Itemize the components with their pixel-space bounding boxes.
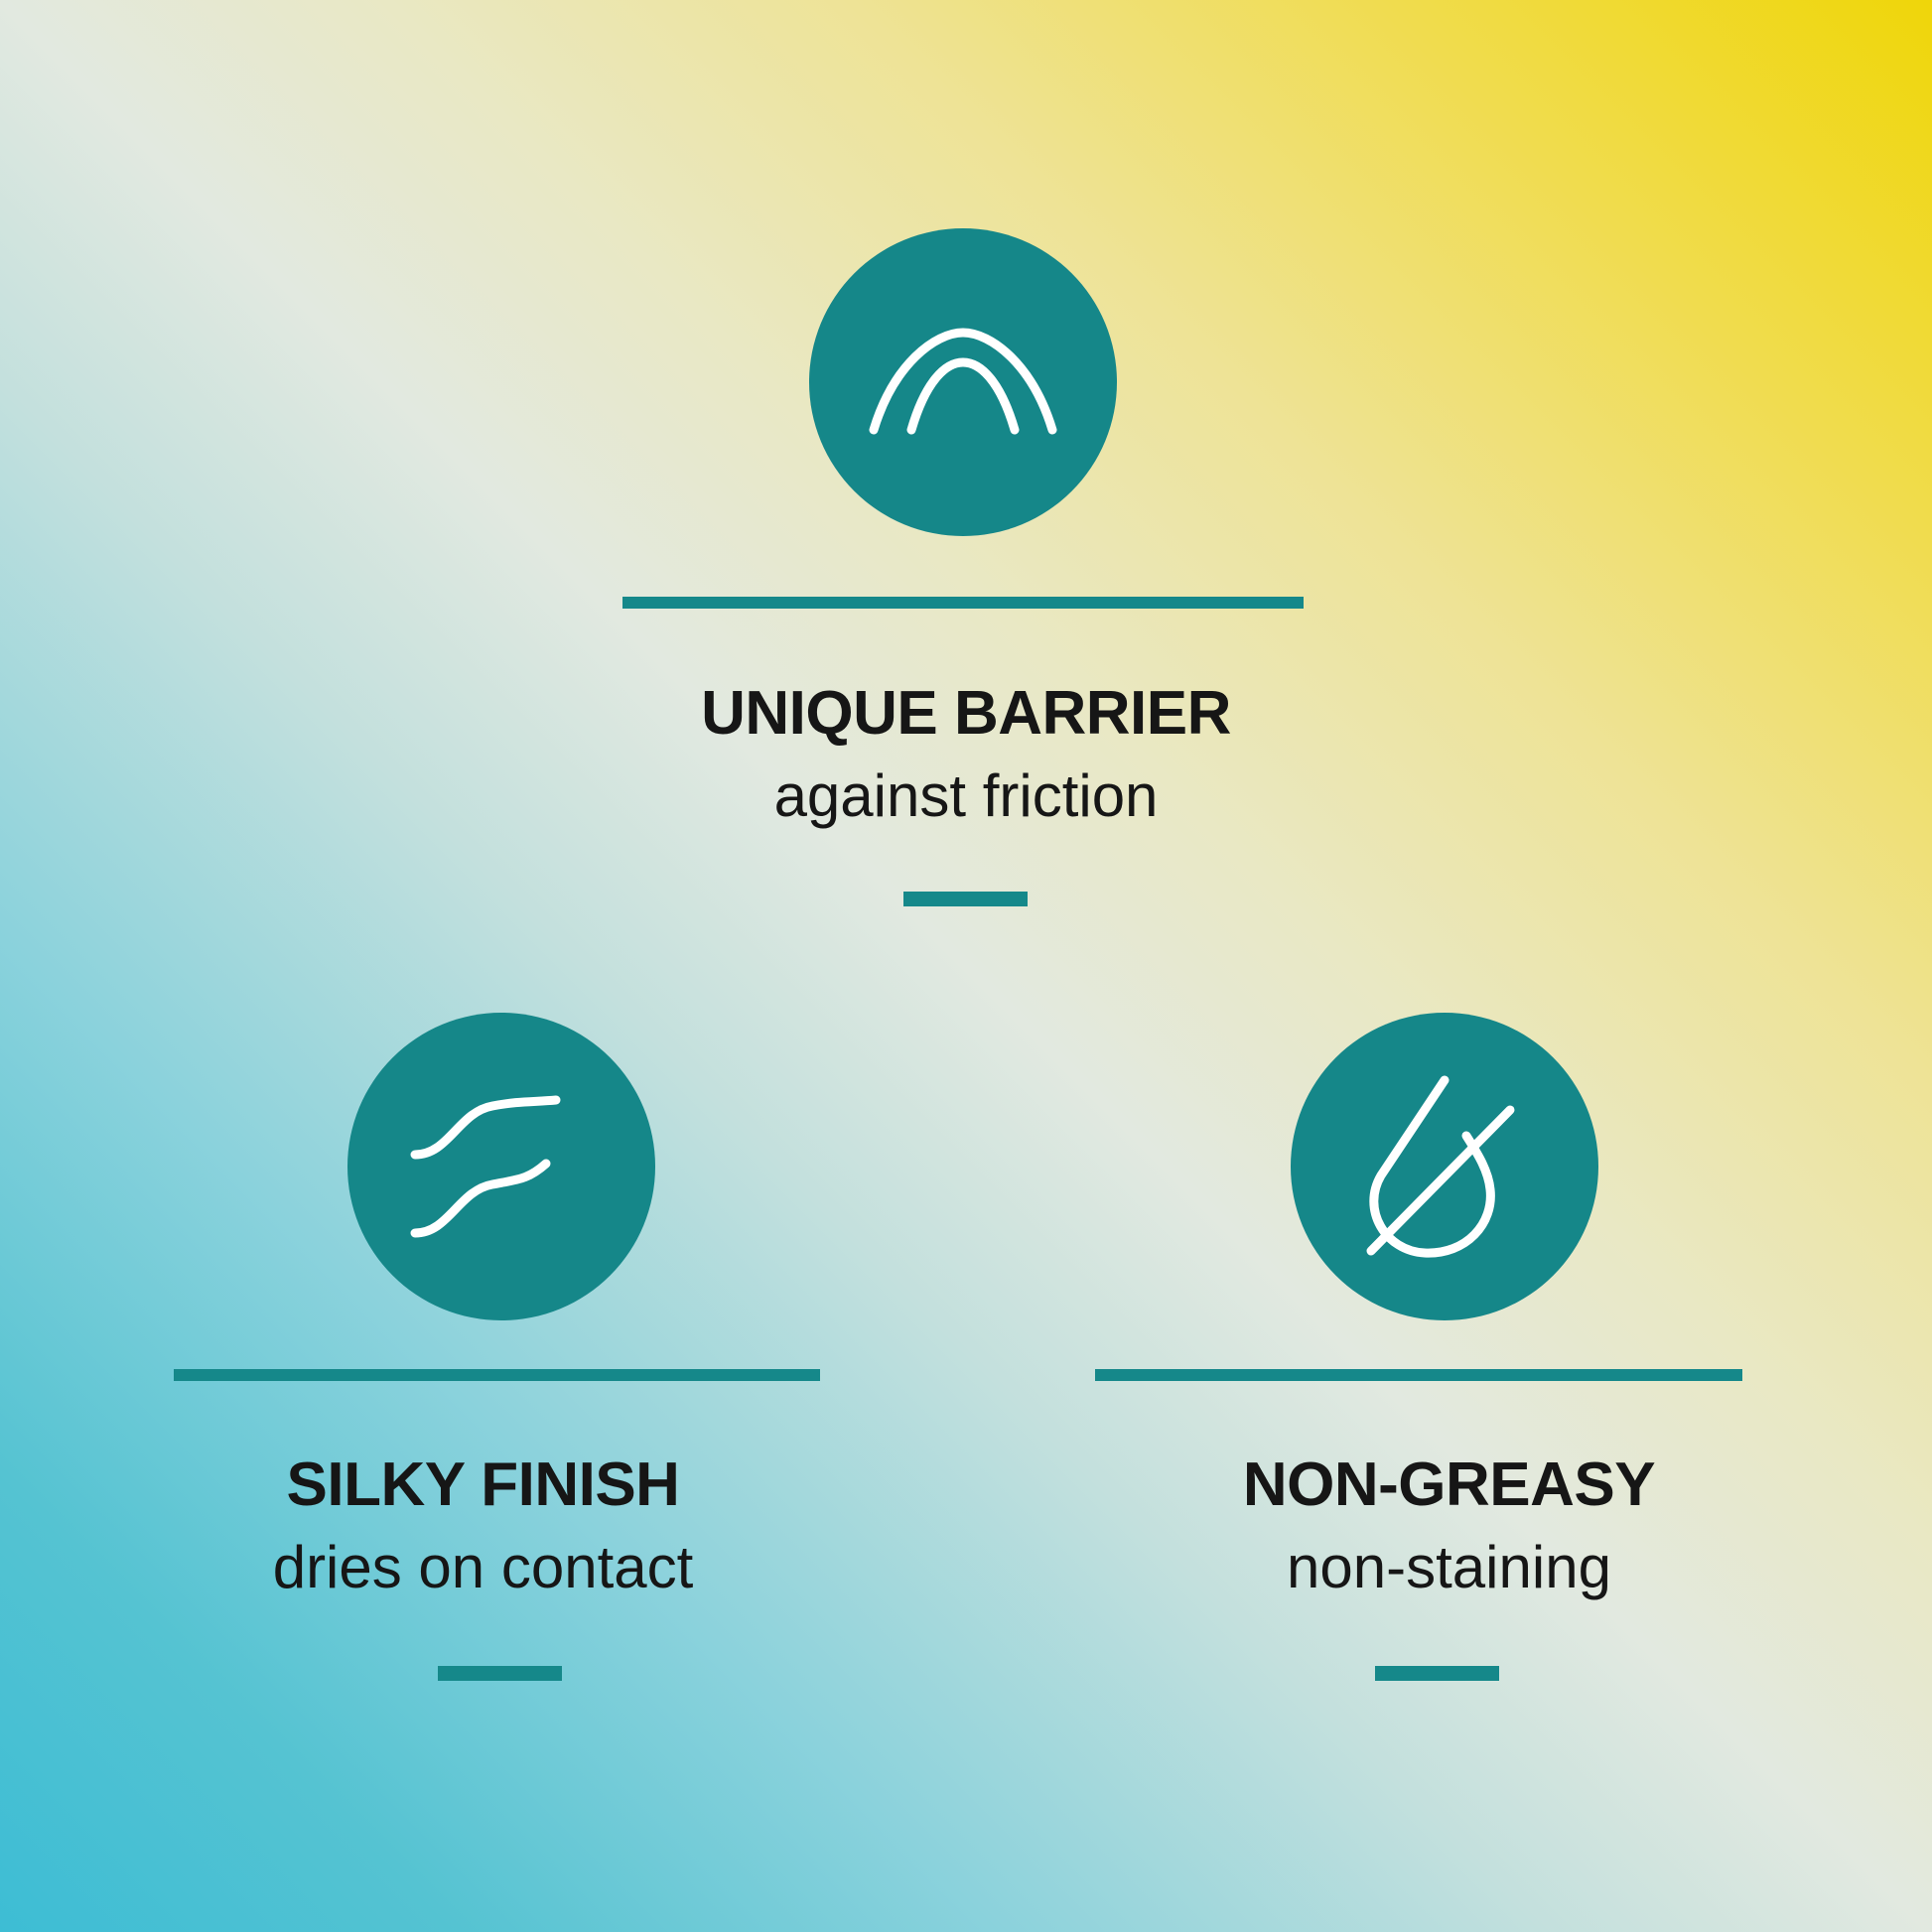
icon-badge-unique-barrier: [809, 228, 1117, 536]
feature-block-silky-finish: SILKY FINISH dries on contact: [0, 953, 966, 1932]
divider-rule-non-greasy: [1095, 1369, 1742, 1381]
wavy-silk-lines-icon: [407, 1092, 596, 1241]
icon-badge-silky-finish: [347, 1013, 655, 1320]
accent-dash-unique-barrier: [903, 892, 1028, 906]
no-droplet-slash-icon: [1359, 1072, 1530, 1261]
accent-dash-silky-finish: [438, 1666, 562, 1681]
feature-block-non-greasy: NON-GREASY non-staining: [966, 953, 1932, 1932]
feature-subtitle-silky-finish: dries on contact: [0, 1538, 966, 1597]
feature-subtitle-unique-barrier: against friction: [0, 766, 1932, 826]
divider-rule-unique-barrier: [622, 597, 1304, 609]
feature-title-non-greasy: NON-GREASY: [966, 1454, 1932, 1516]
feature-block-unique-barrier: UNIQUE BARRIER against friction: [0, 0, 1932, 953]
feature-subtitle-non-greasy: non-staining: [966, 1538, 1932, 1597]
icon-badge-non-greasy: [1291, 1013, 1598, 1320]
feature-title-unique-barrier: UNIQUE BARRIER: [0, 683, 1932, 745]
double-arch-barrier-icon: [864, 323, 1062, 442]
divider-rule-silky-finish: [174, 1369, 820, 1381]
infographic-poster: UNIQUE BARRIER against friction SILKY FI…: [0, 0, 1932, 1932]
feature-title-silky-finish: SILKY FINISH: [0, 1454, 966, 1516]
accent-dash-non-greasy: [1375, 1666, 1499, 1681]
